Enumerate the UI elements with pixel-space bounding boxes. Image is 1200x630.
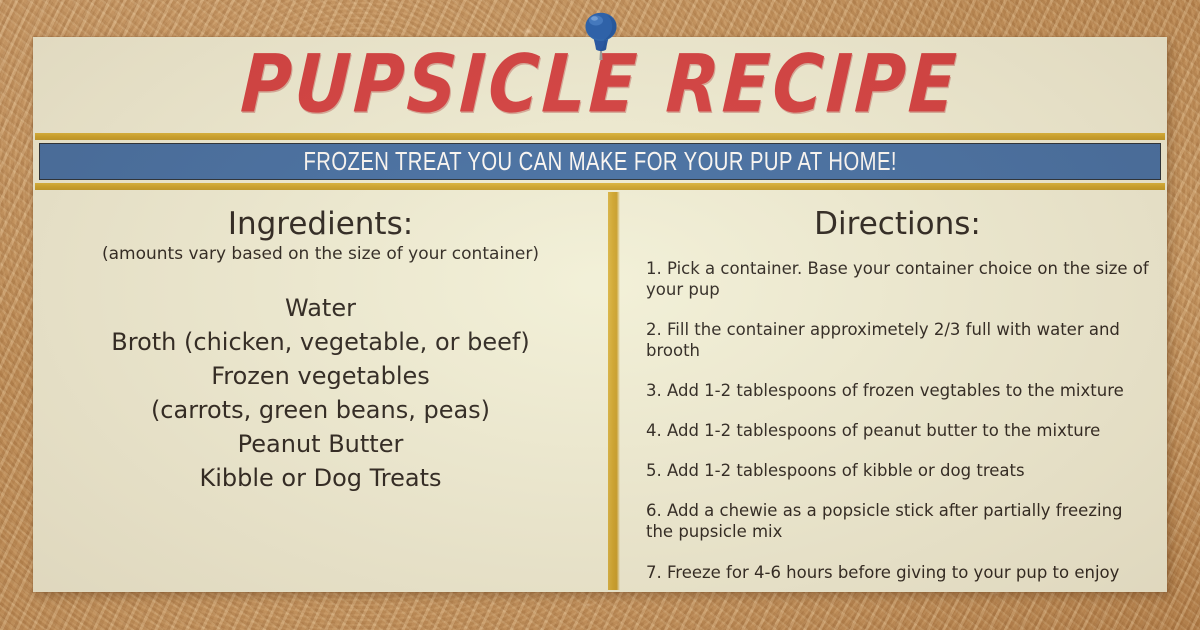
recipe-card: PUPSICLE RECIPE FROZEN TREAT YOU CAN MAK… [33, 37, 1167, 592]
gold-bar-bottom [35, 183, 1165, 190]
content-columns: Ingredients: (amounts vary based on the … [33, 190, 1167, 590]
list-item: 6. Add a chewie as a popsicle stick afte… [646, 500, 1149, 542]
directions-list: 1. Pick a container. Base your container… [646, 258, 1149, 583]
list-item: 3. Add 1-2 tablespoons of frozen vegtabl… [646, 380, 1149, 401]
subtitle-text: FROZEN TREAT YOU CAN MAKE FOR YOUR PUP A… [303, 146, 897, 176]
list-item: Water [53, 291, 588, 325]
list-item: 5. Add 1-2 tablespoons of kibble or dog … [646, 460, 1149, 481]
column-divider [608, 192, 620, 590]
list-item: 1. Pick a container. Base your container… [646, 258, 1149, 300]
gold-bar-top [35, 133, 1165, 140]
ingredients-heading: Ingredients: [53, 208, 588, 241]
list-item: Broth (chicken, vegetable, or beef) [53, 325, 588, 359]
subtitle-banner: FROZEN TREAT YOU CAN MAKE FOR YOUR PUP A… [39, 143, 1161, 180]
list-item: (carrots, green beans, peas) [53, 393, 588, 427]
ingredients-column: Ingredients: (amounts vary based on the … [33, 190, 608, 590]
ingredients-note: (amounts vary based on the size of your … [53, 244, 588, 264]
directions-heading: Directions: [646, 208, 1149, 241]
list-item: Kibble or Dog Treats [53, 461, 588, 495]
cork-board-background: PUPSICLE RECIPE FROZEN TREAT YOU CAN MAK… [0, 0, 1200, 630]
push-pin-icon [577, 8, 625, 66]
list-item: Frozen vegetables [53, 359, 588, 393]
directions-column: Directions: 1. Pick a container. Base yo… [620, 190, 1167, 590]
list-item: Peanut Butter [53, 427, 588, 461]
ingredients-list: Water Broth (chicken, vegetable, or beef… [53, 291, 588, 495]
list-item: 2. Fill the container approximetely 2/3 … [646, 319, 1149, 361]
list-item: 7. Freeze for 4-6 hours before giving to… [646, 562, 1149, 583]
list-item: 4. Add 1-2 tablespoons of peanut butter … [646, 420, 1149, 441]
